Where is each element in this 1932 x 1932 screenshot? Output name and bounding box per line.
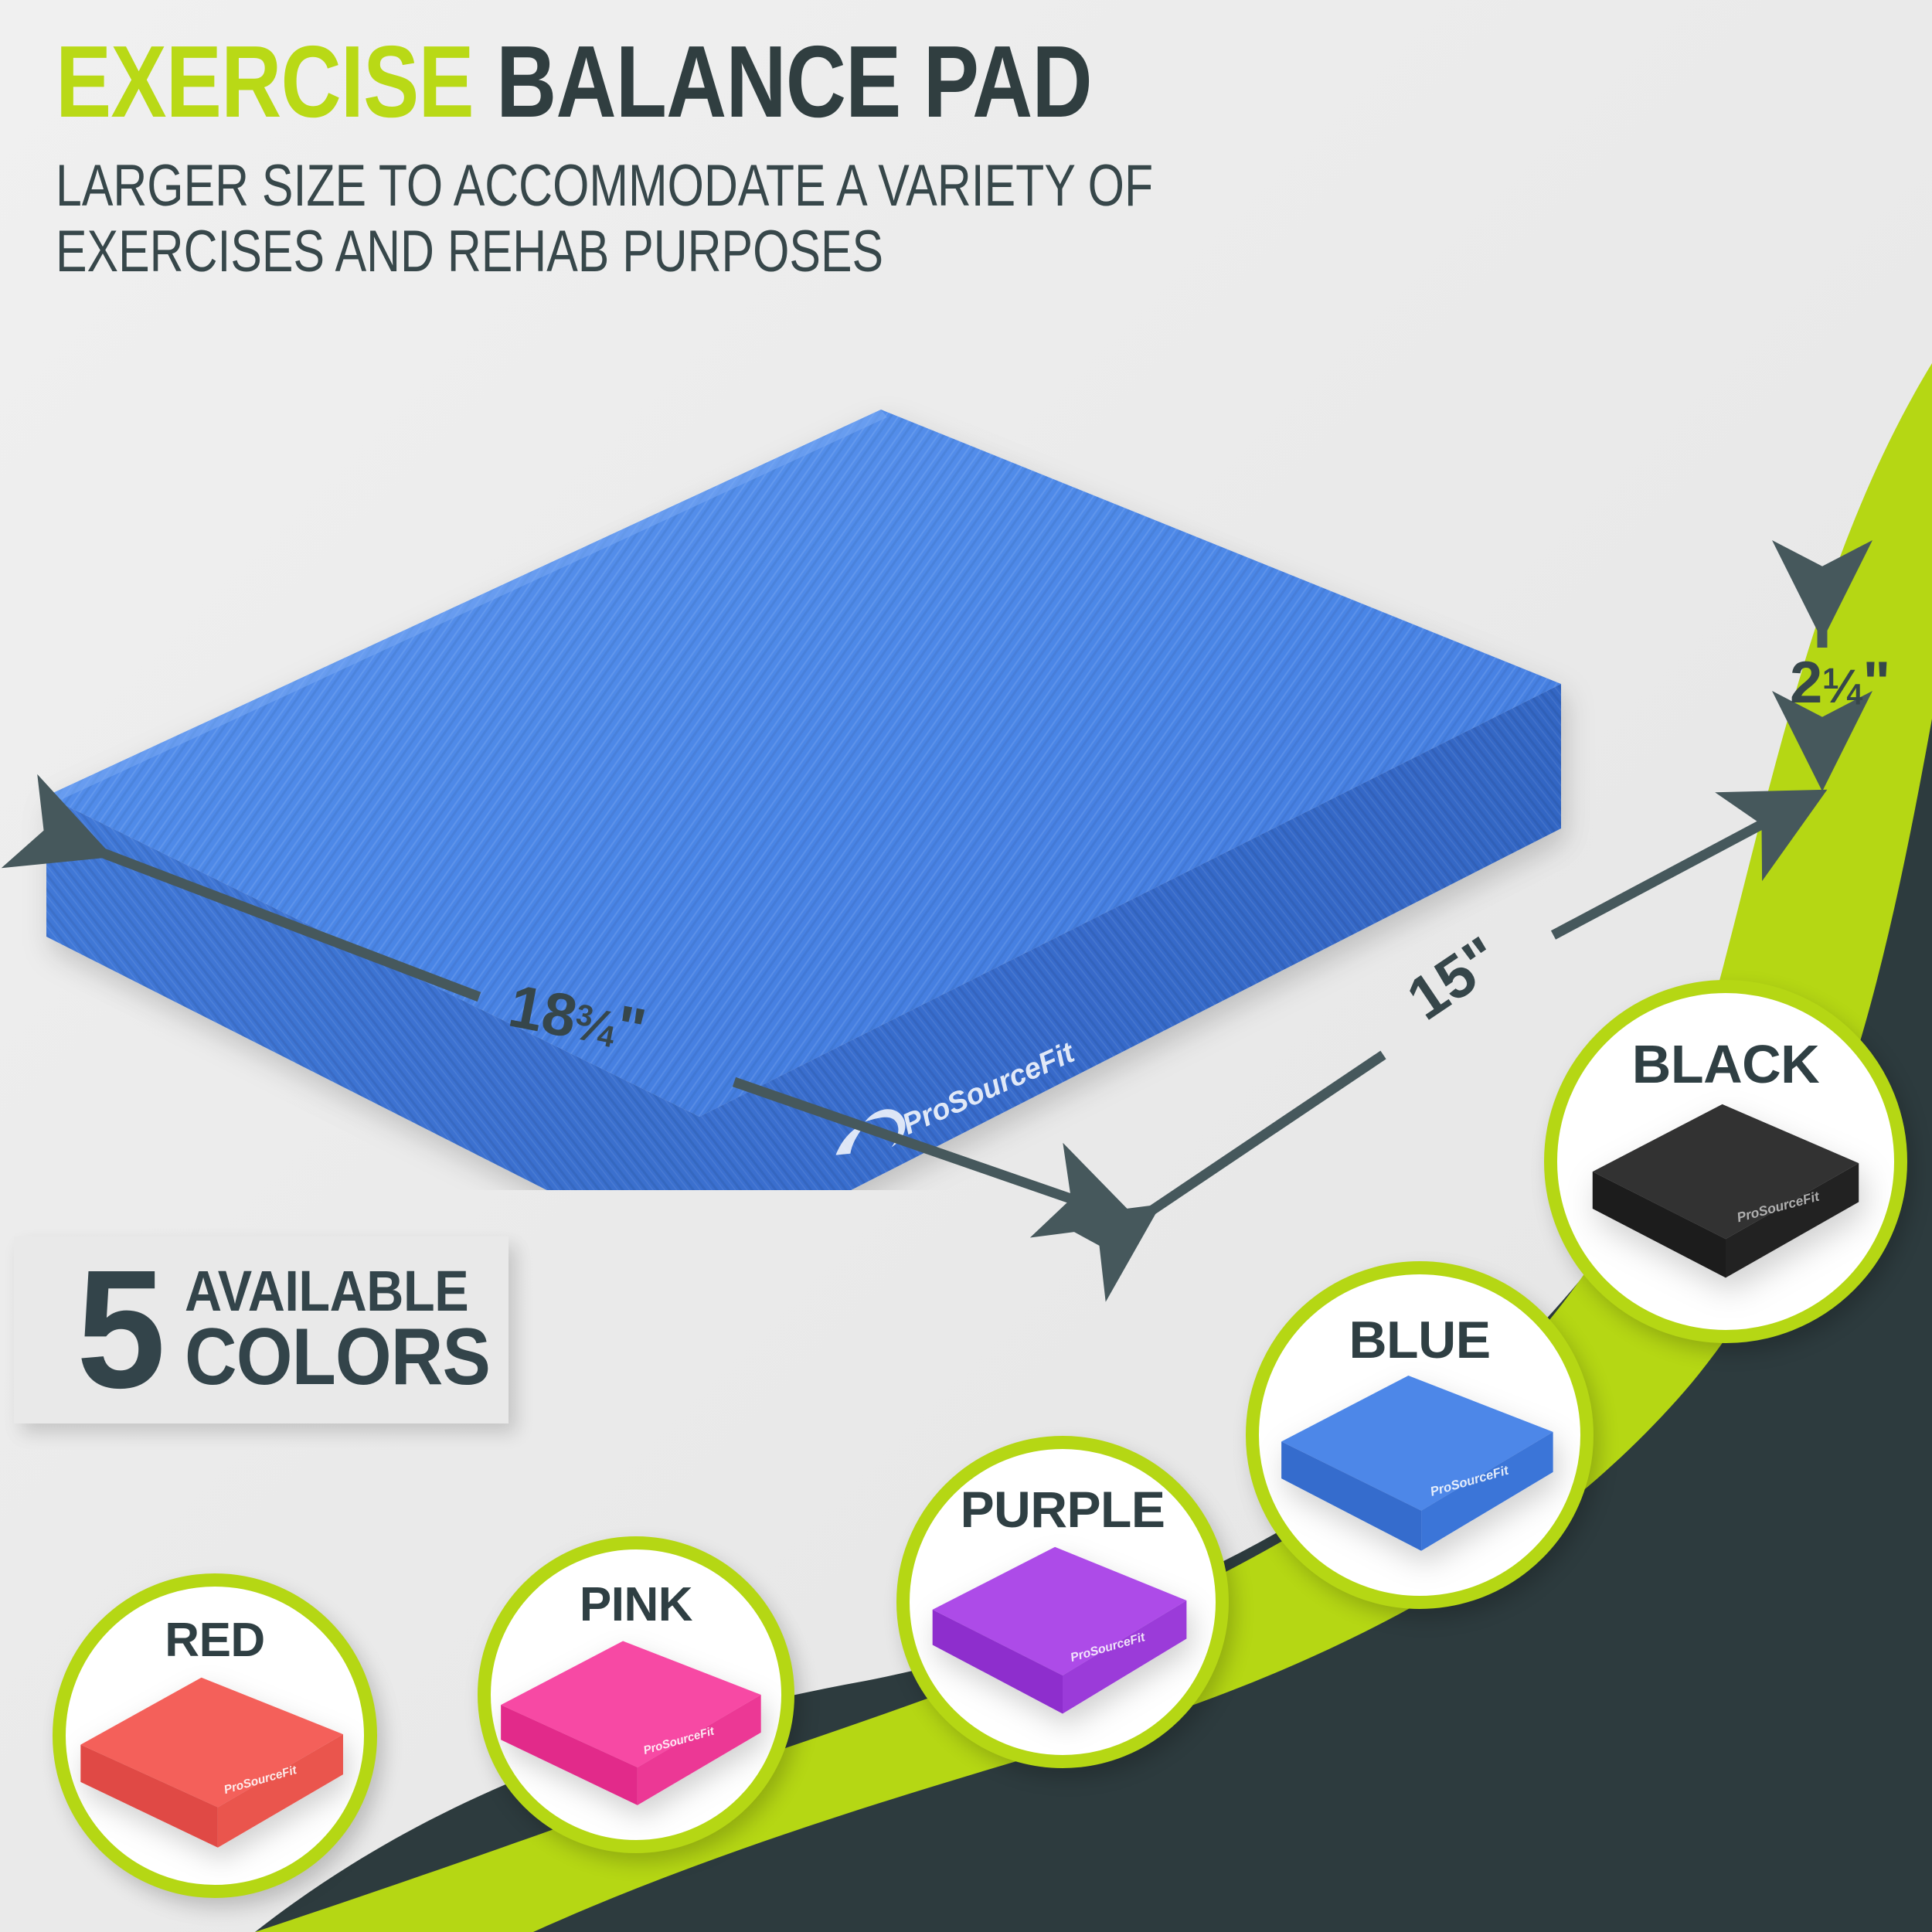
colors-badge-text: AVAILABLE COLORS [185, 1264, 524, 1396]
page-title: EXERCISE BALANCE PAD [56, 29, 1386, 134]
header: EXERCISE BALANCE PAD LARGER SIZE TO ACCO… [56, 29, 1679, 284]
main-balance-pad [46, 410, 1561, 1190]
mini-pad-black: ProSourceFit [1557, 993, 1894, 1330]
title-accent-word: EXERCISE [56, 25, 474, 138]
mini-pad-pink: ProSourceFit [491, 1549, 781, 1840]
available-colors-badge: 5 AVAILABLE COLORS [14, 1236, 509, 1423]
dimension-height-label: 21⁄4" [1790, 649, 1890, 716]
subtitle: LARGER SIZE TO ACCOMMODATE A VARIETY OF … [56, 153, 1354, 284]
color-option-black[interactable]: BLACK ProSourceFit [1544, 980, 1907, 1343]
infographic-canvas: EXERCISE BALANCE PAD LARGER SIZE TO ACCO… [0, 0, 1932, 1932]
mini-pad-blue: ProSourceFit [1259, 1274, 1580, 1596]
mini-pad-red: ProSourceFit [66, 1587, 364, 1885]
title-rest: BALANCE PAD [496, 25, 1092, 138]
colors-badge-line2: COLORS [185, 1319, 490, 1396]
subtitle-line-1: LARGER SIZE TO ACCOMMODATE A VARIETY OF [56, 153, 1354, 219]
color-option-blue[interactable]: BLUE ProSourceFit [1246, 1261, 1594, 1609]
color-option-red[interactable]: RED ProSourceFit [53, 1573, 377, 1898]
color-option-pink[interactable]: PINK ProSourceFit [478, 1536, 794, 1853]
subtitle-line-2: EXERCISES AND REHAB PURPOSES [56, 219, 1354, 284]
color-option-purple[interactable]: PURPLE ProSourceFit [896, 1436, 1229, 1768]
main-product-image: ProSourceFit [0, 340, 1314, 1113]
colors-count: 5 [77, 1264, 165, 1396]
colors-badge-line1: AVAILABLE [185, 1264, 490, 1320]
mini-pad-purple: ProSourceFit [910, 1449, 1216, 1755]
